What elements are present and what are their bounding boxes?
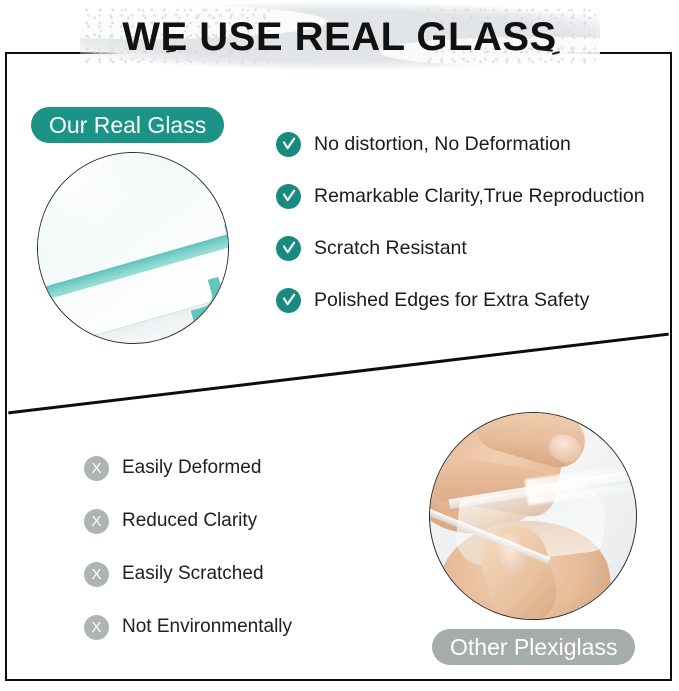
list-item-label: Easily Deformed xyxy=(122,457,261,479)
list-item: Polished Edges for Extra Safety xyxy=(276,287,668,313)
pros-list: No distortion, No Deformation Remarkable… xyxy=(276,131,668,339)
list-item: X Easily Scratched xyxy=(84,561,414,587)
list-item: Scratch Resistant xyxy=(276,235,668,261)
real-glass-corner-photo xyxy=(37,152,229,344)
frame-border-right xyxy=(670,52,672,681)
list-item-label: Easily Scratched xyxy=(122,563,264,585)
list-item-label: No distortion, No Deformation xyxy=(314,133,571,156)
check-circle-icon xyxy=(276,132,301,157)
list-item: X Not Environmentally xyxy=(84,614,414,640)
list-item-label: Remarkable Clarity,True Reproduction xyxy=(314,185,645,208)
list-item: X Reduced Clarity xyxy=(84,508,414,534)
plexiglass-bending-photo xyxy=(429,412,637,620)
x-circle-icon: X xyxy=(84,456,109,481)
cons-list: X Easily Deformed X Reduced Clarity X Ea… xyxy=(84,455,414,667)
infographic-canvas: WE USE REAL GLASS Our Real Glass No dist… xyxy=(0,0,679,691)
list-item-label: Not Environmentally xyxy=(122,616,292,638)
list-item: X Easily Deformed xyxy=(84,455,414,481)
frame-border-left xyxy=(5,52,7,681)
badge-our-real-glass: Our Real Glass xyxy=(31,107,224,143)
check-circle-icon xyxy=(276,184,301,209)
list-item: No distortion, No Deformation xyxy=(276,131,668,157)
check-circle-icon xyxy=(276,288,301,313)
frame-border-bottom xyxy=(5,679,672,681)
list-item: Remarkable Clarity,True Reproduction xyxy=(276,183,668,209)
diagonal-divider xyxy=(8,333,669,415)
x-circle-icon: X xyxy=(84,562,109,587)
list-item-label: Scratch Resistant xyxy=(314,237,467,260)
check-circle-icon xyxy=(276,236,301,261)
list-item-label: Polished Edges for Extra Safety xyxy=(314,289,589,312)
badge-other-plexiglass: Other Plexiglass xyxy=(432,629,635,665)
x-circle-icon: X xyxy=(84,509,109,534)
x-circle-icon: X xyxy=(84,615,109,640)
glass-highlight xyxy=(37,152,178,263)
page-title: WE USE REAL GLASS xyxy=(0,0,679,74)
list-item-label: Reduced Clarity xyxy=(122,510,257,532)
